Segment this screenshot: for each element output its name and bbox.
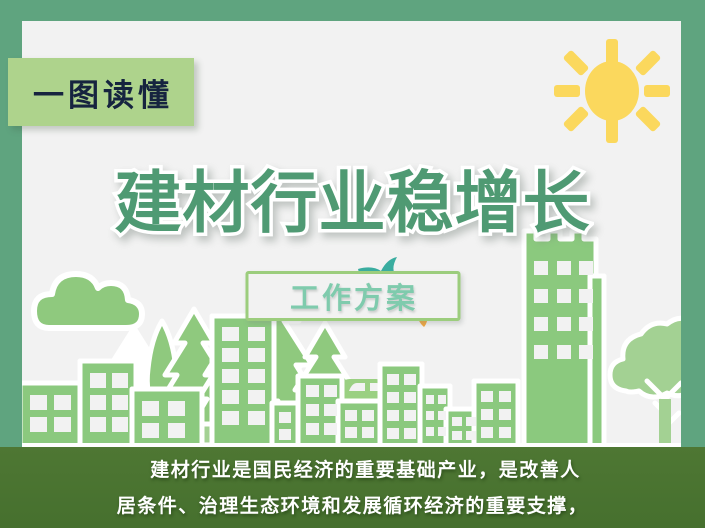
subtitle-box: 工作方案 xyxy=(245,271,460,321)
subtitle-label: 工作方案 xyxy=(287,275,418,317)
broadleaf-tree-icon xyxy=(610,318,681,447)
footer-band: 建材行业是国民经济的重要基础产业，是改善人 居条件、治理生态环境和发展循环经济的… xyxy=(0,447,705,528)
main-title-container: 建材行业稳增长 xyxy=(0,170,705,237)
badge-label: 一图读懂 xyxy=(29,70,173,115)
read-in-one-picture-badge[interactable]: 一图读懂 xyxy=(8,58,194,126)
page-title: 建材行业稳增长 xyxy=(115,170,591,237)
infographic-poster: 一图读懂 建材行业稳增长 工作方案 建材行业是国民经济的重要基础产业，是改善人 … xyxy=(0,0,705,528)
footer-line-2: 居条件、治理生态环境和发展循环经济的重要支撑， xyxy=(117,488,589,524)
footer-line-1: 建材行业是国民经济的重要基础产业，是改善人 xyxy=(124,452,581,488)
sun-icon xyxy=(554,39,670,143)
